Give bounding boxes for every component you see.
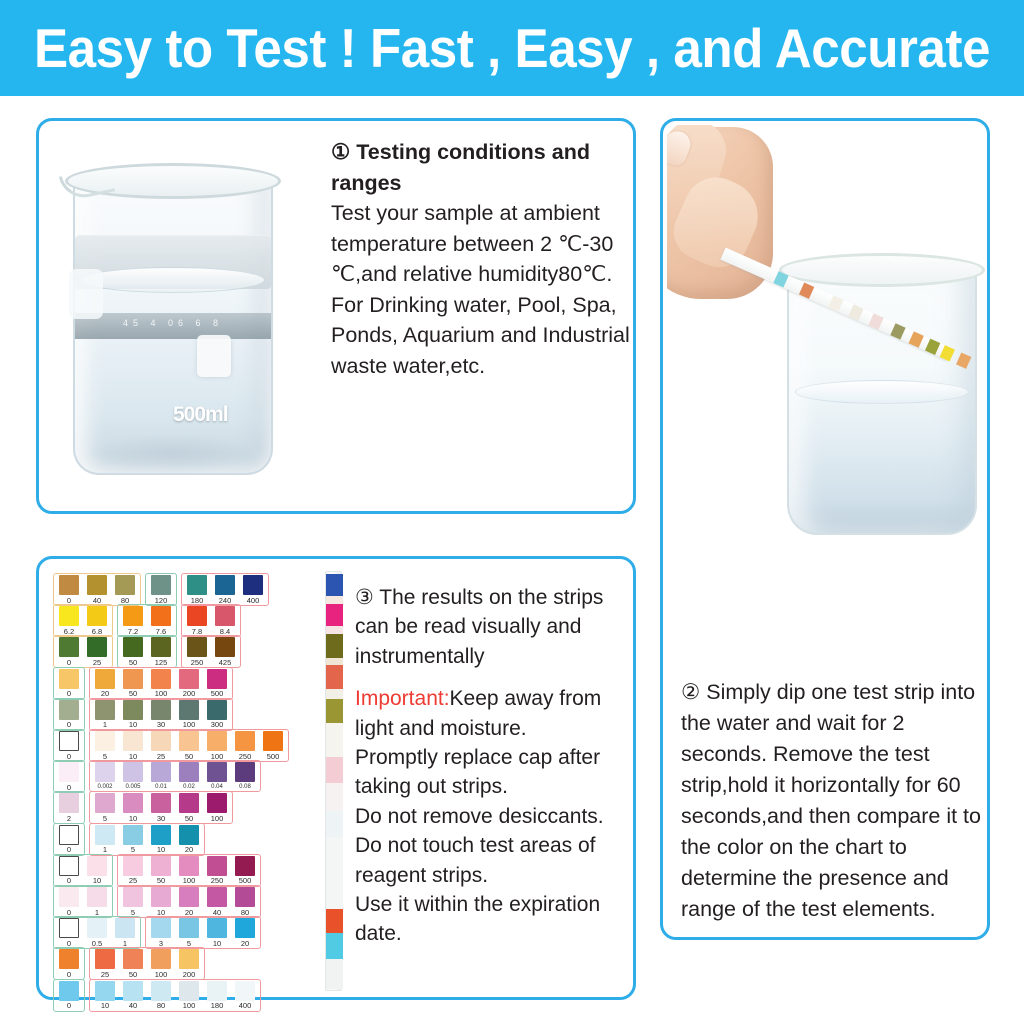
chart-cell: 250 xyxy=(232,731,258,760)
swatch-value-label: 125 xyxy=(155,659,168,667)
color-swatch xyxy=(151,918,171,938)
swatch-value-label: 0 xyxy=(67,753,71,761)
swatch-value-label: 7.6 xyxy=(156,628,166,636)
swatch-value-label: 200 xyxy=(183,690,196,698)
hand-holding-strip-photo xyxy=(667,125,987,665)
swatch-value-label: 250 xyxy=(211,877,224,885)
swatch-value-label: 30 xyxy=(157,815,165,823)
swatch-value-label: 50 xyxy=(157,877,165,885)
swatch-value-label: 0 xyxy=(67,1002,71,1010)
color-comparison-chart: 040801201802404006.26.87.27.67.88.402550… xyxy=(53,573,301,993)
color-swatch xyxy=(215,606,235,626)
strip-pad xyxy=(326,811,343,837)
color-swatch xyxy=(187,606,207,626)
color-swatch xyxy=(95,981,115,1001)
swatch-value-label: 0 xyxy=(67,597,71,605)
swatch-value-label: 120 xyxy=(155,597,168,605)
chart-cell: 50 xyxy=(176,731,202,760)
chart-cell: 50 xyxy=(120,669,146,698)
swatch-value-label: 7.8 xyxy=(192,628,202,636)
chart-group: 0.0020.0050.010.020.040.08 xyxy=(89,760,261,792)
chart-cell: 5 xyxy=(92,731,118,760)
panel-dip-instructions: ② Simply dip one test strip into the wat… xyxy=(660,118,990,940)
panel-two-body-line: the water and wait for 2 xyxy=(681,708,981,739)
swatch-value-label: 0 xyxy=(67,877,71,885)
strip-pad xyxy=(326,665,343,689)
strip-pad xyxy=(326,626,343,634)
color-swatch xyxy=(59,762,79,782)
swatch-value-label: 500 xyxy=(239,877,252,885)
chart-cell: 125 xyxy=(148,637,174,666)
color-swatch xyxy=(95,700,115,720)
strip-pad xyxy=(326,783,343,811)
chart-cell: 0.002 xyxy=(92,762,118,790)
panel-two-body-line: determine the presence and xyxy=(681,863,981,894)
swatch-value-label: 40 xyxy=(213,909,221,917)
swatch-value-label: 20 xyxy=(185,909,193,917)
chart-cell: 400 xyxy=(240,575,266,604)
swatch-value-label: 1 xyxy=(123,940,127,948)
chart-cell: 80 xyxy=(112,575,138,604)
color-swatch xyxy=(151,637,171,657)
color-swatch xyxy=(179,669,199,689)
header-banner: Easy to Test ! Fast , Easy , and Accurat… xyxy=(0,0,1024,96)
swatch-value-label: 25 xyxy=(93,659,101,667)
swatch-value-label: 425 xyxy=(219,659,232,667)
color-swatch xyxy=(263,731,283,751)
color-swatch xyxy=(207,669,227,689)
color-swatch xyxy=(235,887,255,907)
panel-three-body-line: light and moisture. xyxy=(355,714,629,743)
color-swatch xyxy=(235,731,255,751)
color-swatch xyxy=(151,669,171,689)
chart-group: 5102550100250500 xyxy=(89,729,289,762)
chart-cell: 0.08 xyxy=(232,762,258,790)
strip-pad xyxy=(326,699,343,723)
chart-cell: 250 xyxy=(204,856,230,885)
strip-pad xyxy=(326,757,343,783)
panel-one-body-line: Ponds, Aquarium and Industrial xyxy=(331,320,631,351)
chart-group: 104080100180400 xyxy=(89,979,261,1012)
chart-cell: 0 xyxy=(56,887,82,916)
chart-cell: 1 xyxy=(112,918,138,947)
swatch-value-label: 100 xyxy=(183,877,196,885)
chart-group: 180240400 xyxy=(181,573,269,606)
chart-cell: 0.04 xyxy=(204,762,230,790)
color-swatch xyxy=(95,669,115,689)
swatch-value-label: 400 xyxy=(239,1002,252,1010)
swatch-value-label: 40 xyxy=(93,597,101,605)
color-swatch xyxy=(87,637,107,657)
chart-cell: 50 xyxy=(148,856,174,885)
chart-group: 0 xyxy=(53,729,85,762)
chart-group: 7.27.6 xyxy=(117,604,177,637)
swatch-value-label: 5 xyxy=(131,909,135,917)
color-swatch xyxy=(115,918,135,938)
color-swatch xyxy=(207,856,227,876)
chart-group: 120 xyxy=(145,573,177,606)
chart-cell: 500 xyxy=(204,669,230,698)
chart-cell: 100 xyxy=(204,731,230,760)
color-swatch xyxy=(123,887,143,907)
color-swatch xyxy=(151,575,171,595)
panel-one-text: ① Testing conditions and ranges Test you… xyxy=(331,137,631,381)
strip-pad xyxy=(326,723,343,757)
chart-group: 01 xyxy=(53,885,113,918)
swatch-value-label: 0 xyxy=(67,659,71,667)
panel-three-body-line: Do not touch test areas of xyxy=(355,831,629,860)
color-swatch xyxy=(123,669,143,689)
color-swatch xyxy=(123,981,143,1001)
chart-row: 00.51351020 xyxy=(53,916,265,949)
panel-three-heading-line: instrumentally xyxy=(355,642,629,671)
chart-group: 11030100300 xyxy=(89,698,233,731)
swatch-value-label: 25 xyxy=(157,753,165,761)
swatch-value-label: 180 xyxy=(191,597,204,605)
chart-cell: 500 xyxy=(260,731,286,760)
chart-cell: 5 xyxy=(176,918,202,947)
color-swatch xyxy=(87,918,107,938)
swatch-value-label: 0.01 xyxy=(155,784,167,790)
chart-group: 04080 xyxy=(53,573,141,606)
chart-cell: 10 xyxy=(92,981,118,1010)
chart-cell: 400 xyxy=(232,981,258,1010)
color-swatch xyxy=(179,700,199,720)
chart-cell: 0 xyxy=(56,669,82,698)
swatch-value-label: 100 xyxy=(211,815,224,823)
swatch-value-label: 5 xyxy=(131,846,135,854)
color-swatch xyxy=(179,793,199,813)
strip-pad xyxy=(326,634,343,658)
color-swatch xyxy=(59,637,79,657)
swatch-value-label: 10 xyxy=(157,846,165,854)
swatch-value-label: 0 xyxy=(67,940,71,948)
swatch-value-label: 100 xyxy=(183,1002,196,1010)
swatch-value-label: 5 xyxy=(187,940,191,948)
chart-cell: 25 xyxy=(120,856,146,885)
strip-pad xyxy=(326,933,343,959)
color-swatch xyxy=(179,731,199,751)
chart-cell: 3 xyxy=(148,918,174,947)
swatch-value-label: 100 xyxy=(155,971,168,979)
color-swatch xyxy=(215,637,235,657)
chart-group: 2550100200 xyxy=(89,947,205,980)
chart-cell: 2 xyxy=(56,793,82,822)
beaker-graduation-text: 45 4 06 6 8 xyxy=(75,318,271,328)
chart-cell: 50 xyxy=(120,949,146,978)
swatch-value-label: 0.002 xyxy=(97,784,112,790)
chart-cell: 5 xyxy=(92,793,118,822)
color-swatch xyxy=(59,669,79,689)
chart-row: 04080120180240400 xyxy=(53,573,273,606)
strip-pad xyxy=(326,959,343,989)
chart-cell: 20 xyxy=(176,825,202,854)
chart-row: 05102550100250500 xyxy=(53,729,293,762)
chart-group: 250425 xyxy=(181,635,241,668)
swatch-value-label: 0 xyxy=(67,846,71,854)
chart-group: 0 xyxy=(53,667,85,700)
panel-two-body-line: the color on the chart to xyxy=(681,832,981,863)
chart-cell: 80 xyxy=(148,981,174,1010)
swatch-value-label: 240 xyxy=(219,597,232,605)
chart-cell: 180 xyxy=(204,981,230,1010)
beaker-base-reflection xyxy=(89,433,259,473)
chart-group: 0 xyxy=(53,823,85,856)
chart-row: 02050100200500 xyxy=(53,667,237,700)
color-swatch xyxy=(151,856,171,876)
swatch-value-label: 180 xyxy=(211,1002,224,1010)
swatch-value-label: 50 xyxy=(185,815,193,823)
swatch-value-label: 6.8 xyxy=(92,628,102,636)
swatch-value-label: 50 xyxy=(185,753,193,761)
chart-cell: 1 xyxy=(92,825,118,854)
color-swatch xyxy=(123,700,143,720)
chart-cell: 0 xyxy=(56,762,82,791)
panel-three-heading-line: ③ The results on the strips xyxy=(355,583,629,612)
chart-cell: 0.02 xyxy=(176,762,202,790)
color-swatch xyxy=(235,981,255,1001)
chart-cell: 6.8 xyxy=(84,606,110,635)
swatch-value-label: 5 xyxy=(103,815,107,823)
swatch-value-label: 0 xyxy=(67,971,71,979)
swatch-value-label: 250 xyxy=(191,659,204,667)
color-swatch xyxy=(207,762,227,782)
color-swatch xyxy=(87,856,107,876)
color-swatch xyxy=(95,762,115,782)
swatch-value-label: 10 xyxy=(213,940,221,948)
panel-two-body-line: ② Simply dip one test strip into xyxy=(681,677,981,708)
strip-pad xyxy=(326,689,343,699)
swatch-value-label: 0.02 xyxy=(183,784,195,790)
chart-row: 0102550100250500 xyxy=(53,854,265,887)
color-swatch xyxy=(59,949,79,969)
chart-cell: 100 xyxy=(148,669,174,698)
strip-pad xyxy=(326,596,343,604)
swatch-value-label: 50 xyxy=(129,971,137,979)
panel-one-body-line: waste water,etc. xyxy=(331,351,631,382)
color-swatch xyxy=(179,949,199,969)
chart-cell: 5 xyxy=(120,887,146,916)
chart-group: 0 xyxy=(53,979,85,1012)
chart-cell: 1 xyxy=(92,700,118,729)
chart-row: 0104080100180400 xyxy=(53,979,265,1012)
swatch-value-label: 0 xyxy=(67,784,71,792)
chart-cell: 200 xyxy=(176,949,202,978)
color-swatch xyxy=(123,762,143,782)
color-swatch xyxy=(87,606,107,626)
chart-cell: 0 xyxy=(56,575,82,604)
color-swatch xyxy=(207,700,227,720)
chart-group: 5103050100 xyxy=(89,791,233,824)
chart-group: 50125 xyxy=(117,635,177,668)
chart-cell: 50 xyxy=(120,637,146,666)
panel-two-body-line: strip,hold it horizontally for 60 xyxy=(681,770,981,801)
strip-pad xyxy=(326,837,343,909)
chart-cell: 6.2 xyxy=(56,606,82,635)
chart-row: 01510204080 xyxy=(53,885,265,918)
panel-three-text: ③ The results on the strips can be read … xyxy=(355,583,629,949)
swatch-value-label: 100 xyxy=(211,753,224,761)
swatch-value-label: 20 xyxy=(241,940,249,948)
swatch-value-label: 1 xyxy=(103,721,107,729)
swatch-value-label: 10 xyxy=(157,909,165,917)
chart-cell: 100 xyxy=(204,793,230,822)
chart-group: 2550100250500 xyxy=(117,854,261,887)
chart-row: 25103050100 xyxy=(53,791,237,824)
chart-group: 0 xyxy=(53,698,85,731)
chart-cell: 0 xyxy=(56,949,82,978)
panel-three-body-line: date. xyxy=(355,919,629,948)
swatch-value-label: 6.2 xyxy=(64,628,74,636)
panel-two-body-line: seconds,and then compare it to xyxy=(681,801,981,832)
chart-cell: 0 xyxy=(56,856,82,885)
color-swatch xyxy=(123,825,143,845)
panel-results-reading: 040801201802404006.26.87.27.67.88.402550… xyxy=(36,556,636,1000)
color-swatch xyxy=(235,762,255,782)
panel-one-body-line: ℃,and relative humidity80℃. xyxy=(331,259,631,290)
color-swatch xyxy=(179,887,199,907)
reference-test-strip xyxy=(325,571,342,991)
swatch-value-label: 300 xyxy=(211,721,224,729)
color-swatch xyxy=(59,856,79,876)
color-swatch xyxy=(59,918,79,938)
chart-cell: 30 xyxy=(148,700,174,729)
color-swatch xyxy=(235,918,255,938)
color-swatch xyxy=(95,731,115,751)
swatch-value-label: 50 xyxy=(129,690,137,698)
chart-group: 2050100200500 xyxy=(89,667,233,700)
swatch-value-label: 80 xyxy=(157,1002,165,1010)
chart-cell: 80 xyxy=(232,887,258,916)
chart-cell: 240 xyxy=(212,575,238,604)
swatch-value-label: 50 xyxy=(129,659,137,667)
color-swatch xyxy=(151,731,171,751)
color-swatch xyxy=(59,575,79,595)
swatch-value-label: 80 xyxy=(121,597,129,605)
chart-cell: 20 xyxy=(176,887,202,916)
swatch-value-label: 0 xyxy=(67,721,71,729)
swatch-value-label: 25 xyxy=(101,971,109,979)
swatch-value-label: 2 xyxy=(67,815,71,823)
panel-testing-conditions: 45 4 06 6 8 500ml ① Testing conditions a… xyxy=(36,118,636,514)
panel-one-body-line: For Drinking water, Pool, Spa, xyxy=(331,290,631,321)
color-swatch xyxy=(87,575,107,595)
spacer xyxy=(355,671,629,684)
chart-cell: 0 xyxy=(56,700,82,729)
swatch-value-label: 0.005 xyxy=(125,784,140,790)
chart-cell: 7.6 xyxy=(148,606,174,635)
chart-group: 0 xyxy=(53,760,85,793)
chart-row: 00.0020.0050.010.020.040.08 xyxy=(53,760,265,793)
color-swatch xyxy=(179,918,199,938)
panel-three-body-line: Do not remove desiccants. xyxy=(355,802,629,831)
chart-row: 02550125250425 xyxy=(53,635,245,668)
swatch-value-label: 500 xyxy=(267,753,280,761)
beaker-photo: 45 4 06 6 8 500ml xyxy=(45,127,307,507)
swatch-value-label: 30 xyxy=(157,721,165,729)
chart-cell: 100 xyxy=(176,856,202,885)
chart-cell: 100 xyxy=(176,700,202,729)
swatch-value-label: 0.04 xyxy=(211,784,223,790)
swatch-value-label: 0 xyxy=(67,909,71,917)
swatch-value-label: 1 xyxy=(95,909,99,917)
chart-cell: 300 xyxy=(204,700,230,729)
color-swatch xyxy=(235,856,255,876)
chart-cell: 180 xyxy=(184,575,210,604)
color-swatch xyxy=(243,575,263,595)
color-swatch xyxy=(123,637,143,657)
chart-group: 510204080 xyxy=(117,885,261,918)
swatch-value-label: 5 xyxy=(103,753,107,761)
chart-cell: 0 xyxy=(56,637,82,666)
chart-cell: 25 xyxy=(84,637,110,666)
panel-three-body-line: Use it within the expiration xyxy=(355,890,629,919)
color-swatch xyxy=(151,949,171,969)
chart-group: 6.26.8 xyxy=(53,604,113,637)
color-swatch xyxy=(95,949,115,969)
chart-cell: 7.2 xyxy=(120,606,146,635)
color-swatch xyxy=(187,575,207,595)
important-notice: Important:Keep away from xyxy=(355,684,629,713)
swatch-value-label: 400 xyxy=(247,597,260,605)
panel-two-body-line: seconds. Remove the test xyxy=(681,739,981,770)
color-swatch xyxy=(123,606,143,626)
swatch-value-label: 10 xyxy=(101,1002,109,1010)
swatch-value-label: 3 xyxy=(159,940,163,948)
chart-cell: 0 xyxy=(56,981,82,1010)
chart-cell: 10 xyxy=(148,825,174,854)
chart-cell: 250 xyxy=(184,637,210,666)
chart-cell: 10 xyxy=(120,700,146,729)
chart-row: 011030100300 xyxy=(53,698,237,731)
swatch-value-label: 7.2 xyxy=(128,628,138,636)
swatch-value-label: 25 xyxy=(129,877,137,885)
chart-cell: 40 xyxy=(84,575,110,604)
chart-group: 2 xyxy=(53,791,85,824)
chart-cell: 25 xyxy=(148,731,174,760)
beaker-sticker-left xyxy=(69,269,103,319)
chart-cell: 0 xyxy=(56,731,82,760)
glass-waterline xyxy=(795,380,969,404)
color-swatch xyxy=(207,981,227,1001)
panel-three-heading-line: can be read visually and xyxy=(355,612,629,641)
chart-group: 00.51 xyxy=(53,916,141,949)
beaker-graduation-band: 45 4 06 6 8 xyxy=(75,313,271,339)
color-swatch xyxy=(179,981,199,1001)
color-swatch xyxy=(207,731,227,751)
panel-three-body-line: Promptly replace cap after xyxy=(355,743,629,772)
chart-group: 151020 xyxy=(89,823,205,856)
color-swatch xyxy=(151,887,171,907)
swatch-value-label: 80 xyxy=(241,909,249,917)
panel-three-body-line: reagent strips. xyxy=(355,861,629,890)
swatch-value-label: 20 xyxy=(101,690,109,698)
color-swatch xyxy=(151,606,171,626)
color-swatch xyxy=(179,825,199,845)
color-swatch xyxy=(123,856,143,876)
color-swatch xyxy=(59,887,79,907)
color-swatch xyxy=(151,762,171,782)
chart-cell: 200 xyxy=(176,669,202,698)
important-rest: Keep away from xyxy=(450,687,602,710)
chart-cell: 100 xyxy=(176,981,202,1010)
swatch-value-label: 1 xyxy=(103,846,107,854)
chart-group: 7.88.4 xyxy=(181,604,241,637)
color-swatch xyxy=(59,606,79,626)
chart-cell: 0.01 xyxy=(148,762,174,790)
chart-cell: 10 xyxy=(148,887,174,916)
chart-row: 02550100200 xyxy=(53,947,209,980)
